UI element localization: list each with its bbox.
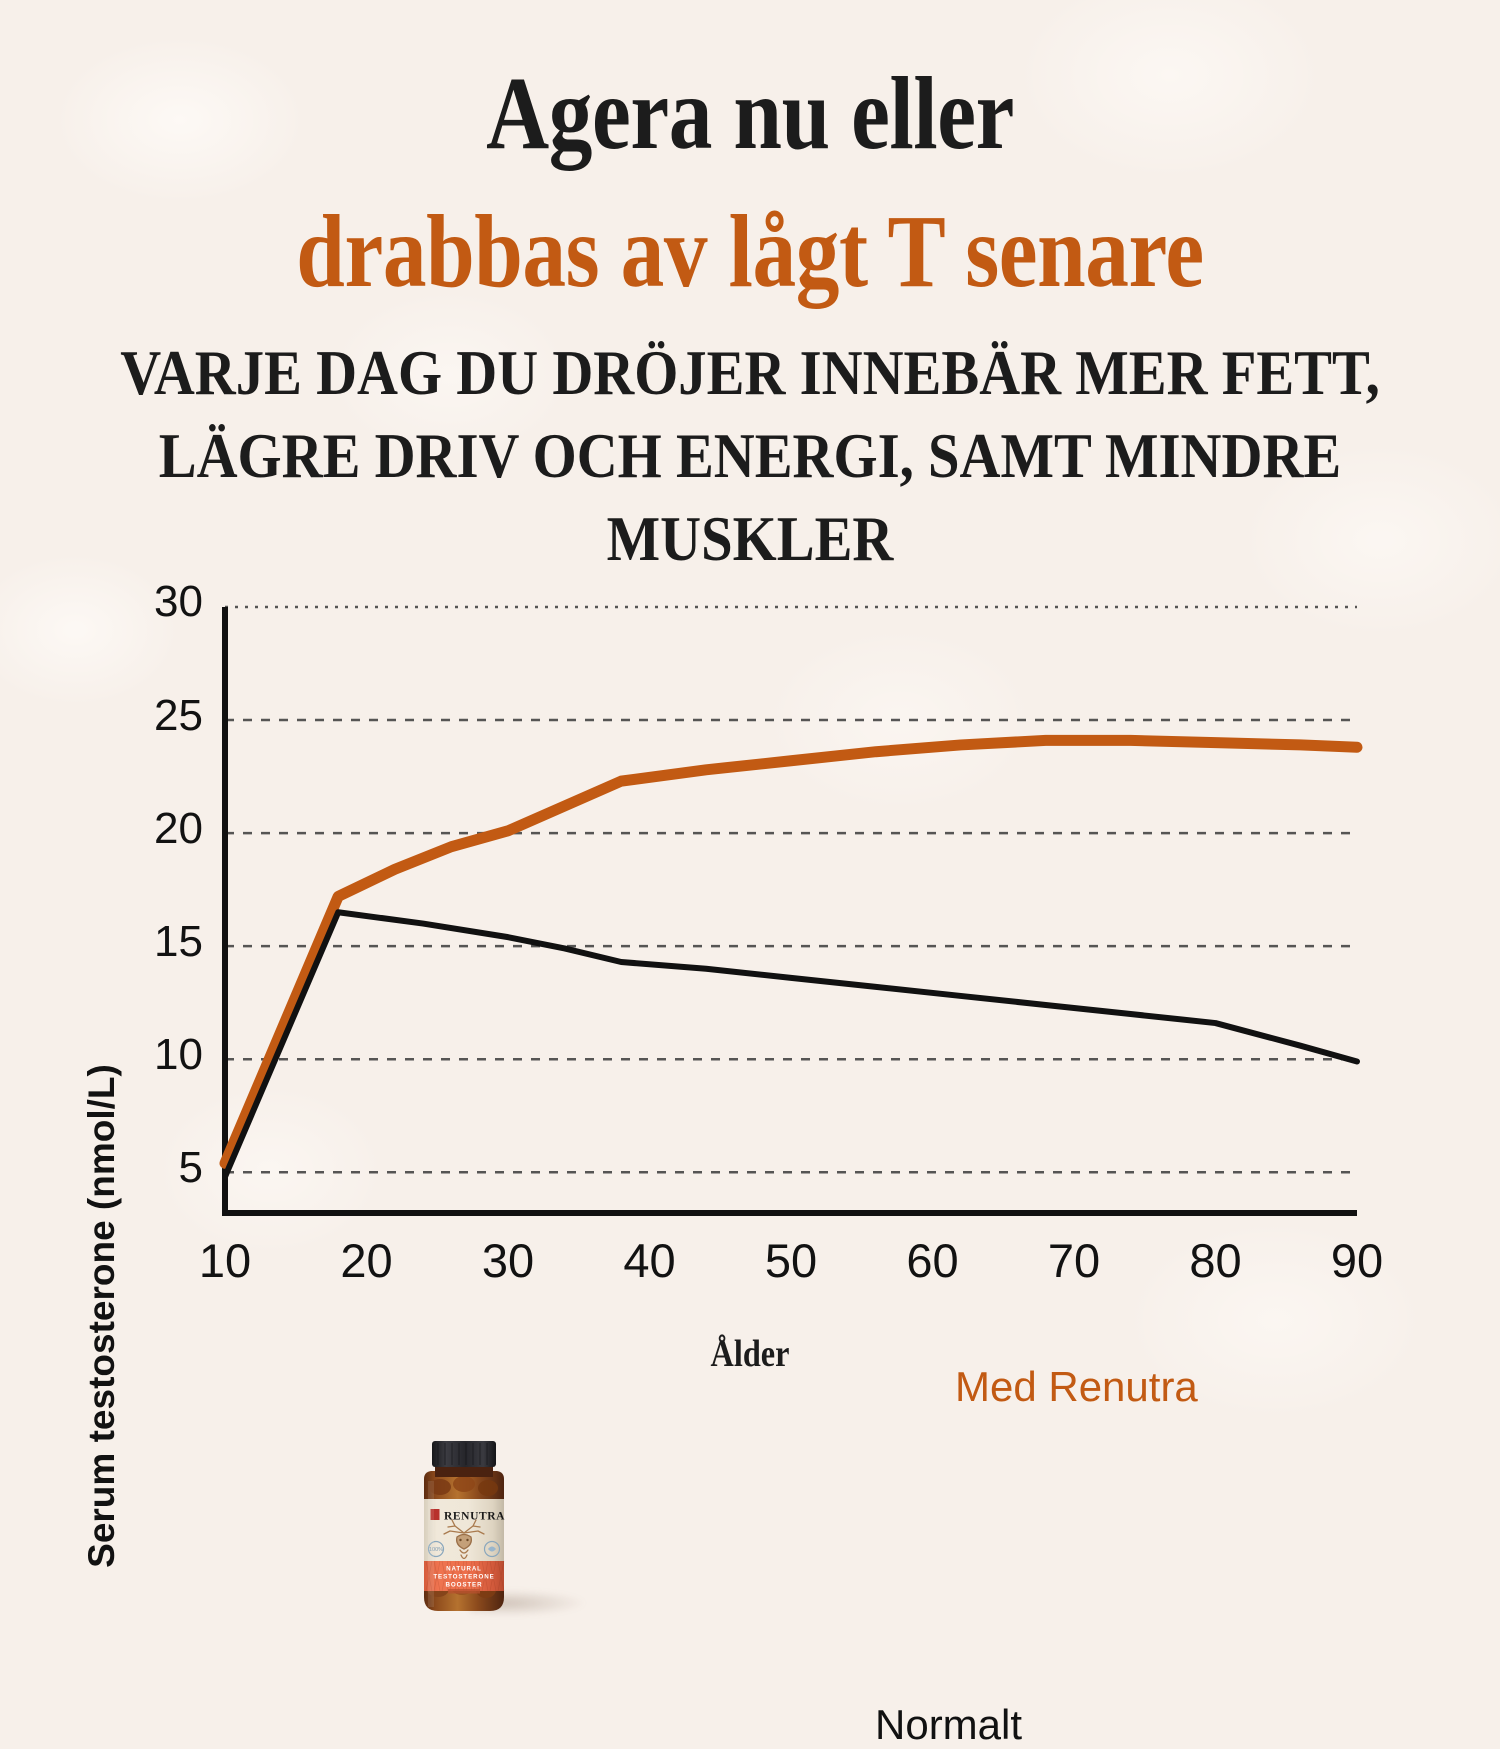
y-axis-title: Serum testosterone (nmol/L) xyxy=(81,1036,123,1596)
emblem-eye-left xyxy=(459,1539,461,1541)
chart-gridlines xyxy=(225,607,1357,1172)
x-tick-label: 70 xyxy=(1019,1233,1129,1288)
testosterone-chart: RENUTRA 100% xyxy=(0,595,1500,1395)
y-tick-label: 30 xyxy=(113,577,203,627)
subheadline: VARJE DAG DU DRÖJER INNEBÄR MER FETT, LÄ… xyxy=(75,332,1425,581)
x-tick-label: 20 xyxy=(312,1233,422,1288)
bottle-highlight xyxy=(428,1481,434,1607)
emblem-eye-right xyxy=(466,1539,468,1541)
x-tick-label: 10 xyxy=(170,1233,280,1288)
series-label-normalt: Normalt xyxy=(875,1701,1022,1749)
poster-page: Agera nu eller drabbas av lågt T senare … xyxy=(0,0,1500,1395)
series-label-med-renutra: Med Renutra xyxy=(955,1363,1198,1411)
x-tick-label: 60 xyxy=(878,1233,988,1288)
x-tick-label: 50 xyxy=(736,1233,846,1288)
x-tick-label: 90 xyxy=(1302,1233,1412,1288)
subheadline-line-3: MUSKLER xyxy=(118,498,1382,581)
headline-line-1: Agera nu eller xyxy=(120,0,1380,166)
y-tick-label: 20 xyxy=(113,804,203,854)
product-bottle-renutra: RENUTRA 100% xyxy=(404,1437,524,1619)
bottle-label-line-1: NATURAL xyxy=(446,1566,482,1573)
bottle-label-line-3: BOOSTER xyxy=(446,1582,483,1589)
x-tick-label: 40 xyxy=(595,1233,705,1288)
y-tick-label: 10 xyxy=(113,1030,203,1080)
x-tick-label: 80 xyxy=(1161,1233,1271,1288)
x-tick-label: 30 xyxy=(453,1233,563,1288)
subheadline-line-2: LÄGRE DRIV OCH ENERGI, SAMT MINDRE xyxy=(118,415,1382,498)
series-line-med-renutra xyxy=(225,741,1357,1164)
chart-axes xyxy=(225,607,1357,1213)
subheadline-line-1: VARJE DAG DU DRÖJER INNEBÄR MER FETT, xyxy=(118,332,1382,415)
y-tick-label: 15 xyxy=(113,917,203,967)
headline-line-2: drabbas av lågt T senare xyxy=(120,200,1380,304)
bottle-cap xyxy=(432,1441,496,1467)
y-tick-label: 25 xyxy=(113,691,203,741)
bottle-label-footer xyxy=(448,1589,480,1594)
bottle-brand-name: RENUTRA xyxy=(444,1511,505,1523)
bottle-label-line-2: TESTOSTERONE xyxy=(433,1574,494,1581)
y-tick-label: 5 xyxy=(113,1143,203,1193)
series-line-normalt xyxy=(225,913,1357,1178)
